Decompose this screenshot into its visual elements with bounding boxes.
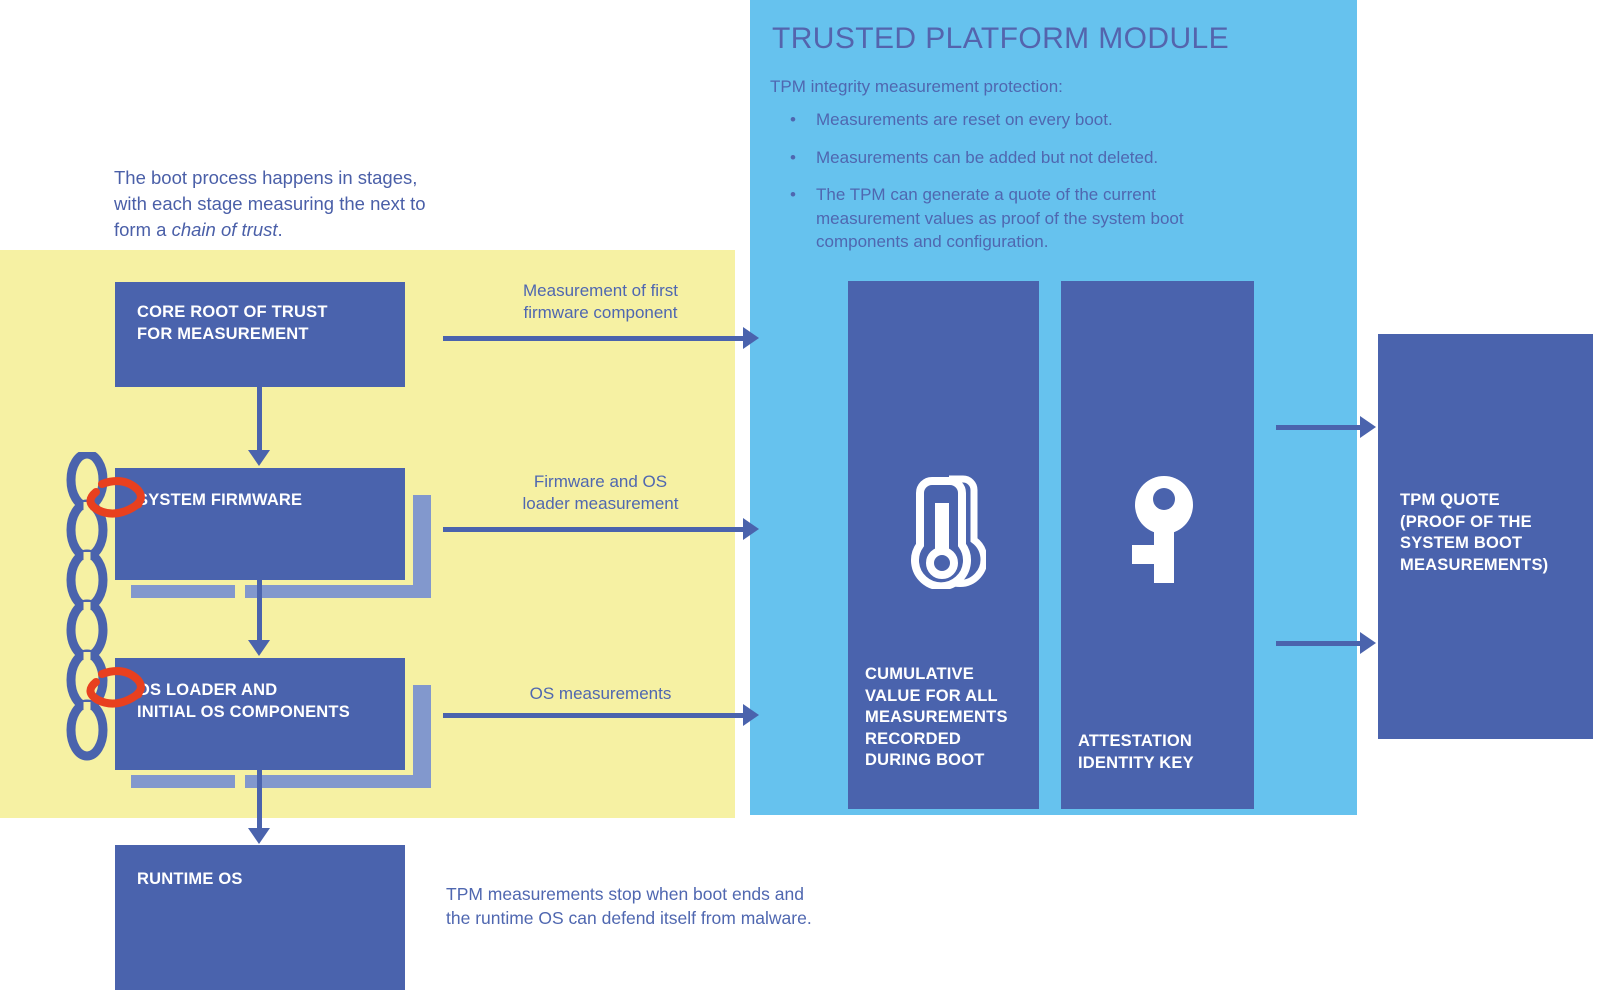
box-label-line: (PROOF OF THE	[1400, 512, 1548, 534]
arrow-label-line: firmware component	[443, 302, 758, 324]
box-label-line: SYSTEM FIRMWARE	[137, 490, 302, 512]
box-label-line: MEASUREMENTS)	[1400, 555, 1548, 577]
list-item: • Measurements can be added but not dele…	[790, 146, 1230, 170]
box-shadow-horizontal	[131, 585, 235, 598]
box-label: RUNTIME OS	[137, 869, 243, 891]
box-label: TPM QUOTE (PROOF OF THE SYSTEM BOOT MEAS…	[1400, 490, 1548, 576]
arrow-label-line: Measurement of first	[443, 280, 758, 302]
key-icon-wrap	[1061, 473, 1254, 589]
tpm-column-attestation-identity-key[interactable]: ATTESTATION IDENTITY KEY	[1061, 281, 1254, 809]
measurement-arrow-line	[443, 527, 743, 532]
box-label-line: CORE ROOT OF TRUST	[137, 302, 328, 324]
box-label-line: INITIAL OS COMPONENTS	[137, 702, 350, 724]
box-shadow-horizontal	[245, 775, 431, 788]
flow-arrowhead-icon	[248, 640, 270, 656]
arrow-label-os-measurements: OS measurements	[443, 683, 758, 705]
box-shadow-horizontal	[245, 585, 431, 598]
intro-line-1: The boot process happens in stages,	[114, 165, 454, 191]
bottom-caption-line: TPM measurements stop when boot ends and	[446, 882, 846, 906]
measurement-arrowhead-icon	[743, 327, 759, 349]
bullet-icon: •	[790, 183, 816, 254]
arrow-label-line: loader measurement	[443, 493, 758, 515]
arrow-label-firmware-os-loader: Firmware and OS loader measurement	[443, 471, 758, 515]
arrow-label-first-firmware: Measurement of first firmware component	[443, 280, 758, 324]
box-label: SYSTEM FIRMWARE	[137, 490, 302, 512]
bottom-caption-line: the runtime OS can defend itself from ma…	[446, 906, 846, 930]
arrow-label-line: OS measurements	[443, 683, 758, 705]
box-core-root-of-trust[interactable]: CORE ROOT OF TRUST FOR MEASUREMENT	[115, 282, 405, 387]
box-label-line: RUNTIME OS	[137, 869, 243, 891]
tpm-bullet-list: • Measurements are reset on every boot. …	[790, 108, 1230, 268]
box-tpm-quote[interactable]: TPM QUOTE (PROOF OF THE SYSTEM BOOT MEAS…	[1378, 334, 1593, 739]
box-label-line: OS LOADER AND	[137, 680, 350, 702]
box-label-line: SYSTEM BOOT	[1400, 533, 1548, 555]
tpm-bullet-text: The TPM can generate a quote of the curr…	[816, 183, 1230, 254]
flow-connector-line	[257, 580, 262, 640]
box-runtime-os[interactable]: RUNTIME OS	[115, 845, 405, 990]
intro-paragraph: The boot process happens in stages, with…	[114, 165, 454, 243]
intro-line-3: form a chain of trust.	[114, 217, 454, 243]
box-label: CORE ROOT OF TRUST FOR MEASUREMENT	[137, 302, 328, 345]
box-system-firmware[interactable]: SYSTEM FIRMWARE	[115, 468, 405, 580]
flow-connector-line	[257, 770, 262, 828]
tpm-bullet-text: Measurements can be added but not delete…	[816, 146, 1230, 170]
measurement-arrow-line	[443, 336, 743, 341]
tpm-column-label-line: RECORDED	[865, 729, 1008, 751]
box-os-loader[interactable]: OS LOADER AND INITIAL OS COMPONENTS	[115, 658, 405, 770]
thermometer-icon-wrap	[848, 473, 1039, 589]
box-label-line: TPM QUOTE	[1400, 490, 1548, 512]
measurement-arrowhead-icon	[743, 704, 759, 726]
quote-arrowhead-icon	[1360, 632, 1376, 654]
tpm-column-cumulative-value[interactable]: CUMULATIVE VALUE FOR ALL MEASUREMENTS RE…	[848, 281, 1039, 809]
quote-arrow-line	[1276, 641, 1360, 646]
flow-arrowhead-icon	[248, 450, 270, 466]
box-shadow-vertical	[413, 685, 431, 788]
tpm-panel-title: TRUSTED PLATFORM MODULE	[772, 22, 1229, 56]
quote-arrowhead-icon	[1360, 416, 1376, 438]
intro-line-3-suffix: .	[278, 219, 283, 240]
tpm-column-label-line: CUMULATIVE	[865, 664, 1008, 686]
tpm-column-label: CUMULATIVE VALUE FOR ALL MEASUREMENTS RE…	[865, 664, 1008, 772]
list-item: • Measurements are reset on every boot.	[790, 108, 1230, 132]
measurement-arrow-line	[443, 713, 743, 718]
flow-connector-line	[257, 387, 262, 450]
tpm-column-label-line: IDENTITY KEY	[1078, 753, 1194, 775]
intro-line-3-prefix: form a	[114, 219, 172, 240]
chain-of-trust-emphasis: chain of trust	[172, 219, 278, 240]
box-shadow-horizontal	[131, 775, 235, 788]
tpm-column-label-line: DURING BOOT	[865, 750, 1008, 772]
box-shadow-vertical	[413, 495, 431, 598]
tpm-column-label-line: MEASUREMENTS	[865, 707, 1008, 729]
bullet-icon: •	[790, 146, 816, 170]
flow-arrowhead-icon	[248, 828, 270, 844]
thermometer-icon	[902, 473, 986, 589]
tpm-column-label-line: ATTESTATION	[1078, 731, 1194, 753]
measurement-arrowhead-icon	[743, 518, 759, 540]
chain-red-link-icon	[82, 474, 152, 522]
quote-arrow-line	[1276, 425, 1360, 430]
key-icon	[1116, 473, 1200, 589]
chain-red-link-icon	[82, 664, 152, 712]
intro-line-2: with each stage measuring the next to	[114, 191, 454, 217]
arrow-label-line: Firmware and OS	[443, 471, 758, 493]
tpm-column-label: ATTESTATION IDENTITY KEY	[1078, 731, 1194, 774]
box-label-line: FOR MEASUREMENT	[137, 324, 328, 346]
tpm-bullet-text: Measurements are reset on every boot.	[816, 108, 1230, 132]
bullet-icon: •	[790, 108, 816, 132]
box-label: OS LOADER AND INITIAL OS COMPONENTS	[137, 680, 350, 723]
list-item: • The TPM can generate a quote of the cu…	[790, 183, 1230, 254]
tpm-subtitle: TPM integrity measurement protection:	[770, 77, 1063, 97]
bottom-caption: TPM measurements stop when boot ends and…	[446, 882, 846, 930]
tpm-column-label-line: VALUE FOR ALL	[865, 686, 1008, 708]
